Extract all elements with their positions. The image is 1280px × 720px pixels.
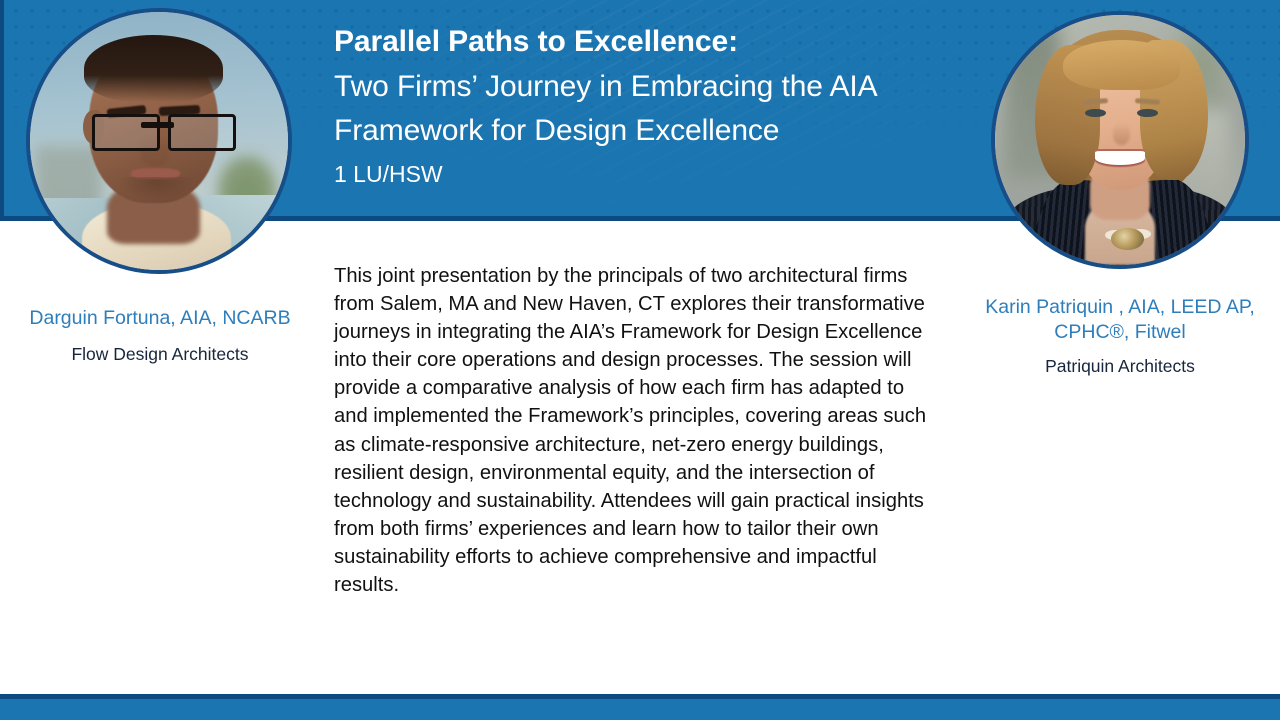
speaker-firm-right: Patriquin Architects bbox=[960, 354, 1280, 379]
speaker-name-right-line-2: CPHC®, Fitwel bbox=[960, 320, 1280, 345]
title-line-1: Parallel Paths to Excellence: bbox=[334, 20, 994, 65]
presentation-slide: Parallel Paths to Excellence: Two Firms’… bbox=[0, 0, 1280, 720]
title-line-3: Framework for Design Excellence bbox=[334, 109, 994, 154]
speaker-firm-left: Flow Design Architects bbox=[0, 342, 320, 367]
avatar-speaker-left bbox=[26, 8, 292, 274]
headshot-photo-left bbox=[30, 12, 288, 270]
eyeglasses-icon bbox=[92, 114, 236, 145]
headshot-photo-right bbox=[995, 15, 1245, 265]
session-title-block: Parallel Paths to Excellence: Two Firms’… bbox=[334, 20, 994, 192]
ce-credit-label: 1 LU/HSW bbox=[334, 156, 994, 192]
title-line-2: Two Firms’ Journey in Embracing the AIA bbox=[334, 65, 994, 110]
footer-band bbox=[0, 699, 1280, 720]
necklace-detail bbox=[1111, 228, 1144, 251]
speaker-caption-right: Karin Patriquin , AIA, LEED AP, CPHC®, F… bbox=[960, 295, 1280, 379]
avatar-speaker-right bbox=[991, 11, 1249, 269]
speaker-name-left: Darguin Fortuna, AIA, NCARB bbox=[0, 306, 320, 331]
session-description: This joint presentation by the principal… bbox=[334, 262, 942, 599]
speaker-caption-left: Darguin Fortuna, AIA, NCARB Flow Design … bbox=[0, 306, 320, 367]
speaker-name-right-line-1: Karin Patriquin , AIA, LEED AP, bbox=[960, 295, 1280, 320]
